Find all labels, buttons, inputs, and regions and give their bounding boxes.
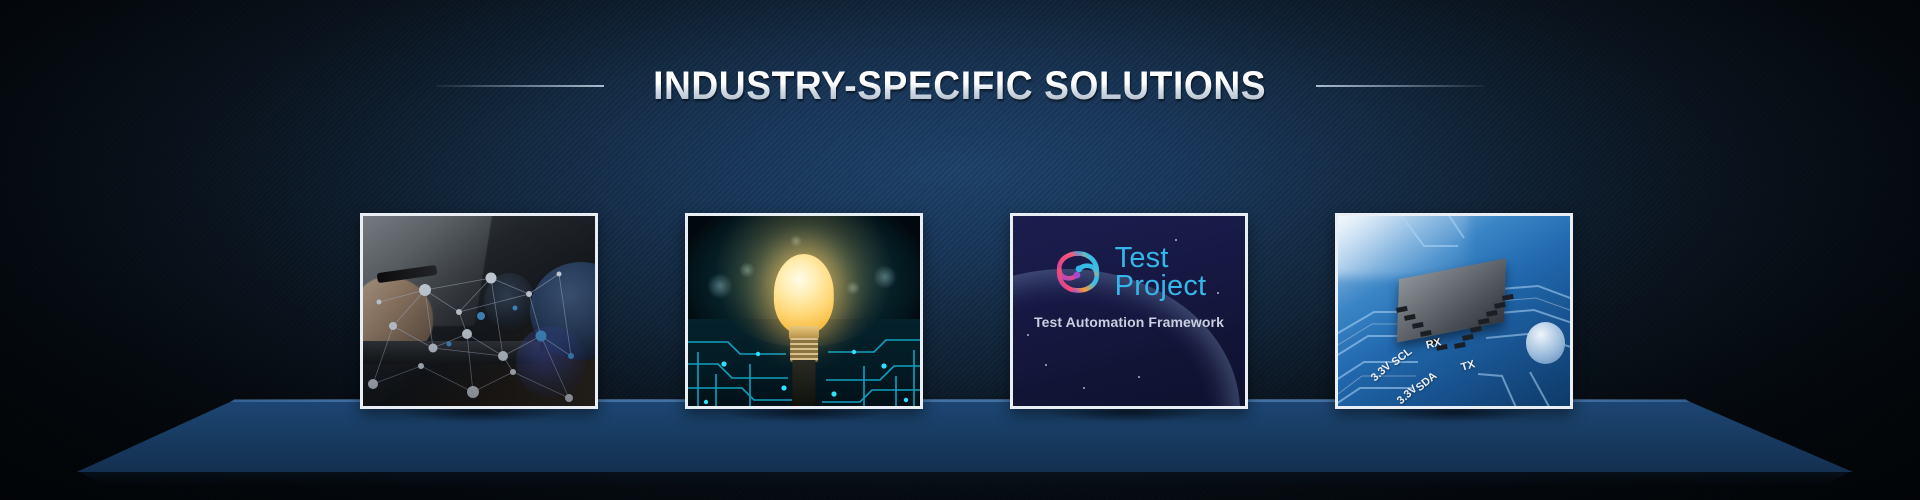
- heading-rule-right: [1316, 85, 1484, 87]
- testproject-logo: Test Project: [1013, 244, 1245, 300]
- industry-card-3[interactable]: Test Project Test Automation Framework: [1010, 213, 1248, 409]
- card-image-testproject: Test Project Test Automation Framework: [1013, 216, 1245, 406]
- card-image-network-tablet: [363, 216, 595, 406]
- testproject-wordmark: Test Project: [1115, 244, 1207, 300]
- heading-rule-left: [436, 85, 604, 87]
- testproject-loops-icon: [1052, 246, 1104, 298]
- card-image-pcb-microchip: RX SCL TX SDA 3.3V 3.3V: [1338, 216, 1570, 406]
- industry-card-2[interactable]: [685, 213, 923, 409]
- industry-card-4[interactable]: RX SCL TX SDA 3.3V 3.3V: [1335, 213, 1573, 409]
- industry-card-1[interactable]: [360, 213, 598, 409]
- card-image-lightbulb-circuit: [688, 216, 920, 406]
- industry-solutions-section: INDUSTRY-SPECIFIC SOLUTIONS: [0, 0, 1920, 500]
- page-title: INDUSTRY-SPECIFIC SOLUTIONS: [653, 66, 1266, 106]
- logo-word-project: Project: [1115, 272, 1207, 300]
- section-heading: INDUSTRY-SPECIFIC SOLUTIONS: [0, 62, 1920, 110]
- testproject-tagline: Test Automation Framework: [1013, 314, 1245, 330]
- logo-word-test: Test: [1115, 244, 1207, 272]
